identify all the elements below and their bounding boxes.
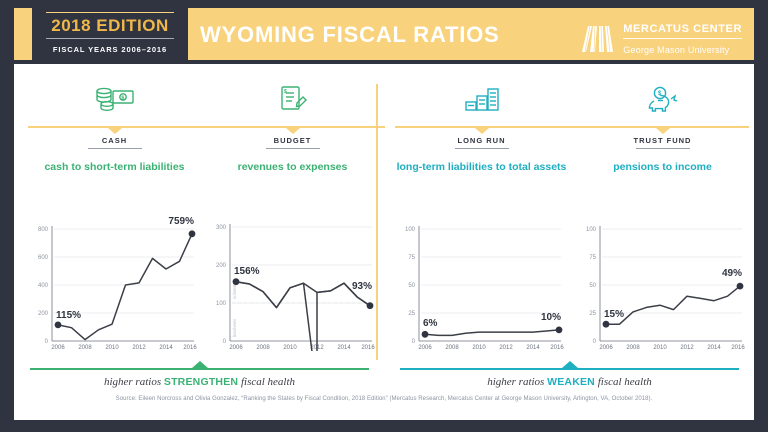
y-tick-labels: 0 25 50 75 100: [405, 227, 416, 345]
svg-text:25: 25: [408, 311, 415, 317]
footer-text: higher ratios WEAKEN fiscal health: [392, 376, 747, 388]
chart-trust-fund: 0 25 50 75 100 2006 2008 2010 2012 2014 …: [570, 196, 755, 351]
y-tick-labels: 0 100 200 300: [216, 225, 227, 345]
x-tick-labels: 2006 2008 2010 2012 2014 2016: [599, 345, 745, 351]
svg-text:2008: 2008: [78, 345, 92, 351]
svg-text:2010: 2010: [472, 345, 486, 351]
series-line: [606, 286, 740, 324]
svg-text:300: 300: [216, 225, 227, 231]
svg-text:2014: 2014: [159, 345, 173, 351]
svg-text:2016: 2016: [183, 345, 197, 351]
gridlines: [421, 229, 561, 313]
svg-text:2008: 2008: [256, 345, 270, 351]
chart-long-run: 0 25 50 75 100 2006 2008 2010 2012 2014 …: [389, 196, 574, 351]
mercatus-logo: MERCATUS CENTER George Mason University: [581, 20, 742, 58]
svg-text:25: 25: [589, 311, 596, 317]
budget-document-icon: $: [200, 82, 385, 116]
end-value-label: 93%: [352, 281, 372, 292]
svg-text:75: 75: [408, 255, 415, 261]
svg-text:100: 100: [586, 227, 597, 233]
kicker-underline: [266, 148, 320, 149]
svg-text:2008: 2008: [626, 345, 640, 351]
start-value-label: 15%: [604, 309, 624, 320]
svg-text:2012: 2012: [132, 345, 146, 351]
start-value-label: 115%: [56, 310, 81, 321]
badge-edition-label: 2018 EDITION: [34, 15, 186, 36]
svg-text:2006: 2006: [418, 345, 432, 351]
svg-text:2006: 2006: [229, 345, 243, 351]
svg-text:100: 100: [405, 227, 416, 233]
end-point: [189, 230, 196, 237]
svg-text:2016: 2016: [361, 345, 375, 351]
svg-text:100: 100: [216, 301, 227, 307]
panel-kicker-long-run: LONG RUN: [389, 136, 574, 145]
svg-text:75: 75: [589, 255, 596, 261]
cash-stack-icon: $: [22, 82, 207, 116]
footer-emphasis: STRENGTHEN: [164, 376, 238, 388]
end-value-label: 10%: [541, 312, 561, 323]
panel-caret: [286, 128, 300, 134]
panel-caret: [108, 128, 122, 134]
svg-text:2008: 2008: [445, 345, 459, 351]
svg-text:400: 400: [38, 283, 49, 289]
infographic-poster: 2018 EDITION FISCAL YEARS 2006–2016 WYOM…: [0, 0, 768, 432]
end-point: [737, 283, 744, 290]
solvency-vertical-labels: solvent insolvent: [232, 284, 237, 337]
series-line-clean: [236, 282, 370, 308]
svg-text:2006: 2006: [599, 345, 613, 351]
x-tick-labels: 2006 2008 2010 2012 2014 2016: [229, 345, 375, 351]
footer-strengthen: higher ratios STRENGTHEN fiscal health: [22, 360, 377, 400]
y-tick-labels: 0 25 50 75 100: [586, 227, 597, 345]
end-point: [367, 302, 374, 309]
panel-subtitle-budget: revenues to expenses: [200, 160, 385, 174]
body-panel: $ CASH cash to short-term liabilities: [14, 64, 754, 420]
piggy-bank-icon: $: [570, 82, 755, 116]
panel-subtitle-trust-fund: pensions to income: [570, 160, 755, 174]
x-tick-labels: 2006 2008 2010 2012 2014 2016: [51, 345, 197, 351]
start-value-label: 6%: [423, 318, 438, 329]
svg-text:800: 800: [38, 227, 49, 233]
svg-text:$: $: [284, 89, 287, 95]
svg-text:2012: 2012: [499, 345, 513, 351]
svg-text:0: 0: [45, 339, 49, 345]
start-point: [233, 278, 240, 285]
chart-budget: 0 100 200 300 solvent insolvent 2006 200…: [200, 196, 385, 351]
footer-weaken: higher ratios WEAKEN fiscal health: [392, 360, 747, 400]
y-tick-labels: 0 200 400 600 800: [38, 227, 49, 345]
header: 2018 EDITION FISCAL YEARS 2006–2016 WYOM…: [0, 0, 768, 68]
svg-text:0: 0: [412, 339, 416, 345]
panel-caret: [656, 128, 670, 134]
footer-prefix: higher ratios: [104, 376, 164, 388]
svg-text:2014: 2014: [707, 345, 721, 351]
svg-text:2014: 2014: [526, 345, 540, 351]
footer-caret: [562, 361, 578, 368]
logo-text: MERCATUS CENTER George Mason University: [623, 20, 742, 58]
page-title: WYOMING FISCAL RATIOS: [200, 22, 500, 48]
series-line: [425, 330, 559, 336]
badge-rule-top: [46, 12, 174, 13]
footer-bar: [30, 368, 369, 370]
svg-text:2010: 2010: [283, 345, 297, 351]
logo-line1: MERCATUS CENTER: [623, 23, 742, 35]
svg-text:0: 0: [593, 339, 597, 345]
kicker-underline: [636, 148, 690, 149]
end-point: [556, 327, 563, 334]
footer-prefix: higher ratios: [487, 376, 547, 388]
svg-text:$: $: [121, 96, 124, 102]
asset-bars-icon: [389, 82, 574, 116]
svg-text:2006: 2006: [51, 345, 65, 351]
svg-text:200: 200: [38, 311, 49, 317]
panel-kicker-cash: CASH: [22, 136, 207, 145]
mercatus-logo-icon: [581, 25, 617, 53]
svg-text:2014: 2014: [337, 345, 351, 351]
panel-kicker-budget: BUDGET: [200, 136, 385, 145]
svg-text:600: 600: [38, 255, 49, 261]
svg-text:50: 50: [589, 283, 596, 289]
svg-text:2010: 2010: [105, 345, 119, 351]
panel-subtitle-long-run: long-term liabilities to total assets: [389, 160, 574, 174]
footer-suffix: fiscal health: [595, 376, 652, 388]
svg-text:200: 200: [216, 263, 227, 269]
footer-suffix: fiscal health: [238, 376, 295, 388]
end-value-label: 49%: [722, 268, 742, 279]
footer-emphasis: WEAKEN: [547, 376, 595, 388]
panel-kicker-trust-fund: TRUST FUND: [570, 136, 755, 145]
kicker-underline: [455, 148, 509, 149]
svg-text:2012: 2012: [680, 345, 694, 351]
panel-subtitle-cash: cash to short-term liabilities: [22, 160, 207, 174]
svg-text:0: 0: [223, 339, 227, 345]
svg-text:$: $: [658, 91, 662, 97]
end-value-label: 759%: [168, 216, 194, 227]
series-line: [58, 234, 192, 340]
svg-text:2010: 2010: [653, 345, 667, 351]
footer-bar: [400, 368, 739, 370]
badge-years-label: FISCAL YEARS 2006–2016: [34, 41, 186, 55]
chart-cash: 0 200 400 600 800 2006 2008 2010 2012 20…: [22, 196, 207, 351]
source-citation: Source: Eileen Norcross and Olivia Gonza…: [14, 396, 754, 402]
gridlines: [54, 229, 194, 313]
edition-badge: 2018 EDITION FISCAL YEARS 2006–2016: [34, 10, 186, 55]
label-insolvent: insolvent: [232, 318, 237, 337]
svg-text:2016: 2016: [731, 345, 745, 351]
footer-text: higher ratios STRENGTHEN fiscal health: [22, 376, 377, 388]
badge-rule-mid: [46, 38, 174, 39]
x-tick-labels: 2006 2008 2010 2012 2014 2016: [418, 345, 564, 351]
svg-text:50: 50: [408, 283, 415, 289]
start-point: [55, 322, 62, 329]
start-point: [603, 321, 610, 328]
footer-caret: [192, 361, 208, 368]
svg-text:2016: 2016: [550, 345, 564, 351]
start-value-label: 156%: [234, 266, 260, 277]
logo-divider: [623, 38, 742, 39]
start-point: [422, 331, 429, 338]
logo-line2: George Mason University: [623, 45, 729, 55]
kicker-underline: [88, 148, 142, 149]
label-solvent: solvent: [232, 284, 237, 299]
panel-caret: [475, 128, 489, 134]
